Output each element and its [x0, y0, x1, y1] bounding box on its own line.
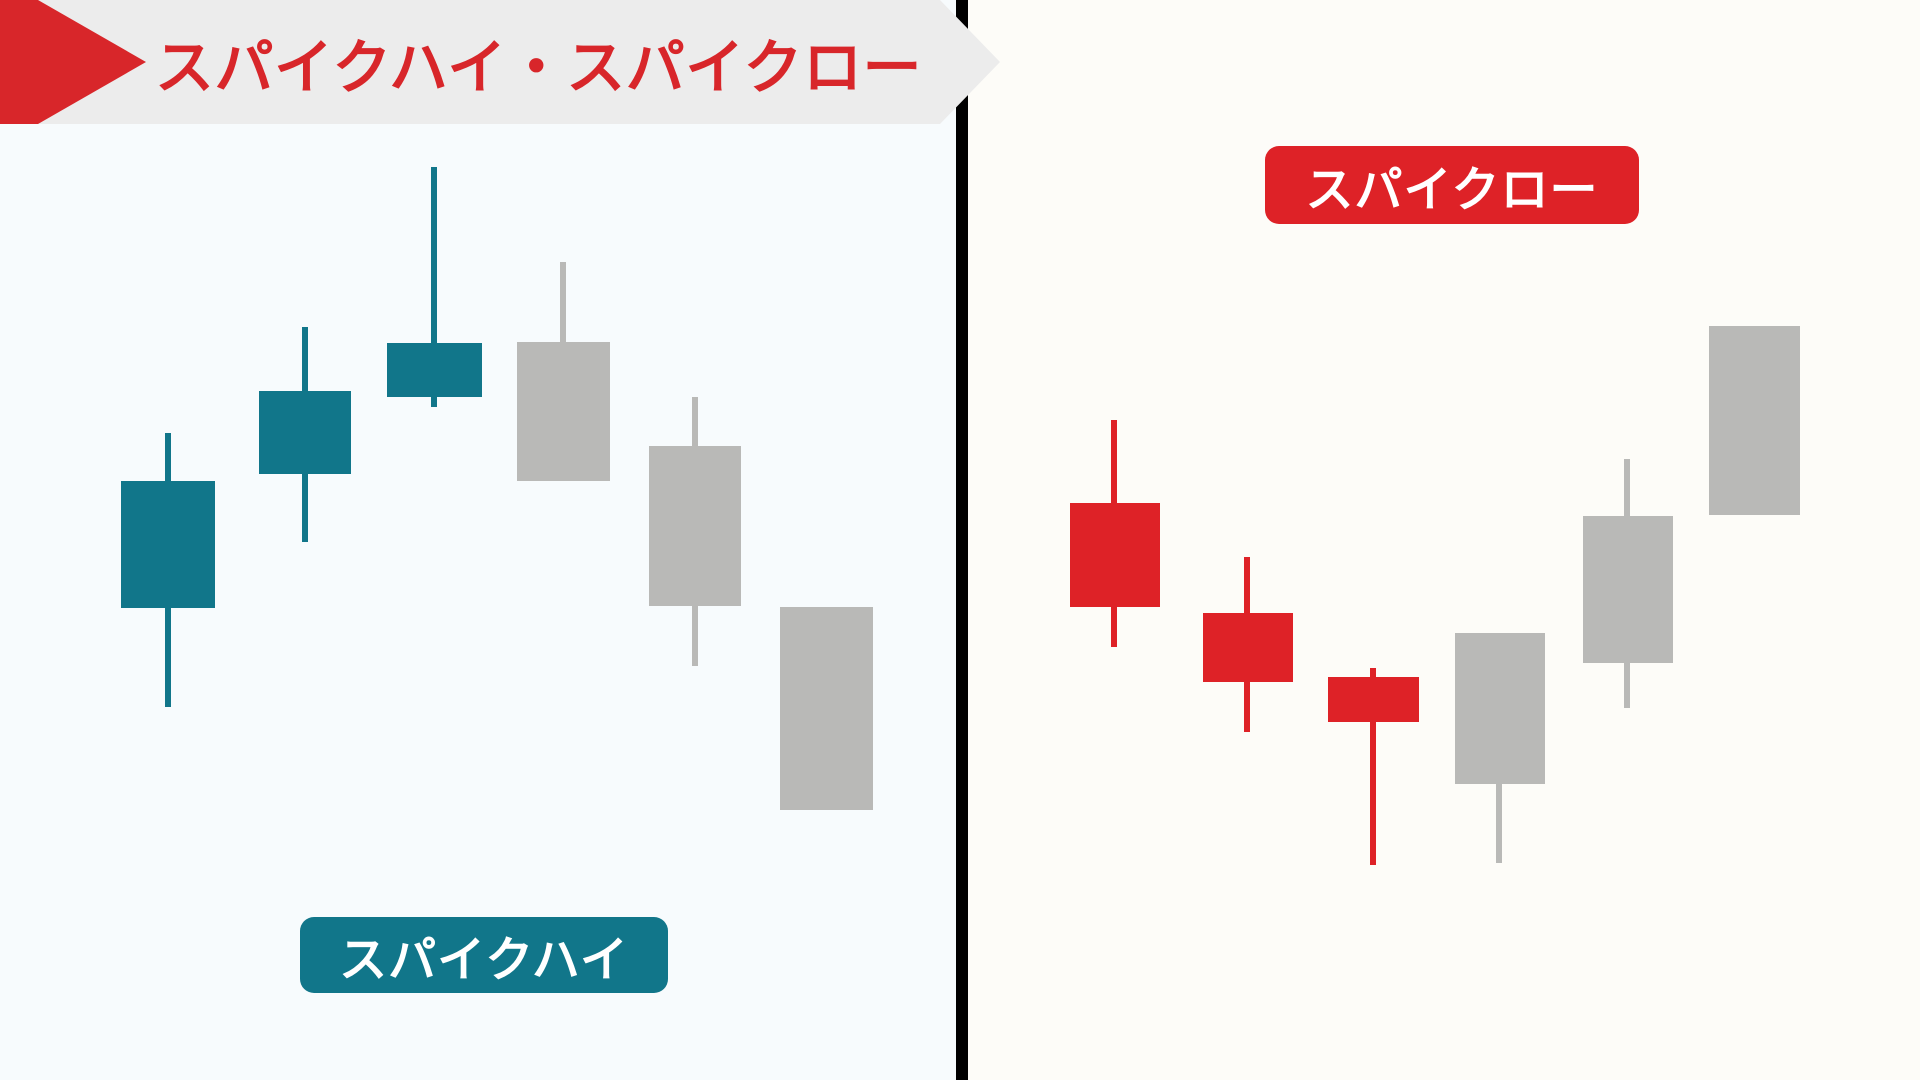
candlestick-body	[649, 446, 741, 606]
candlestick-body	[1709, 326, 1800, 515]
panel-divider	[956, 0, 968, 1080]
candlestick-body	[1328, 677, 1419, 722]
candlestick-body	[1583, 516, 1673, 663]
candlestick-body	[1070, 503, 1160, 607]
candlestick-body	[259, 391, 351, 474]
page-title: スパイクハイ・スパイクロー	[155, 0, 922, 124]
spike-high-caption-pill: スパイクハイ	[300, 917, 668, 993]
candlestick-body	[780, 607, 873, 810]
header-ribbon: スパイクハイ・スパイクロー	[0, 0, 1000, 124]
candlestick-body	[1203, 613, 1293, 682]
candlestick-body	[517, 342, 610, 481]
candlestick-body	[121, 481, 215, 608]
page-root: スパイクハイ スパイクロー スパイクハイ・スパイクロー	[0, 0, 1920, 1080]
candlestick-body	[387, 343, 482, 397]
spike-high-panel: スパイクハイ	[0, 0, 956, 1080]
candlestick-body	[1455, 633, 1545, 784]
spike-low-caption-pill: スパイクロー	[1265, 146, 1639, 224]
